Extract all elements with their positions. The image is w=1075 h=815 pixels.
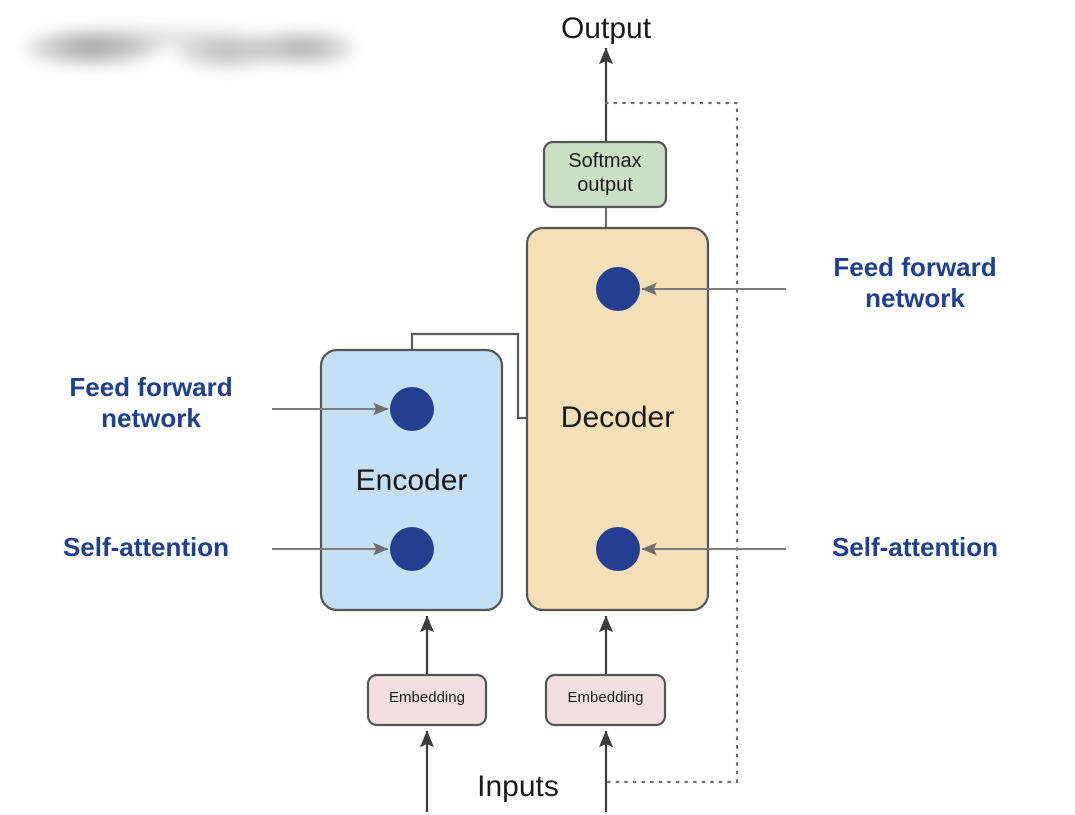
encoder-feed-forward-node[interactable] xyxy=(390,387,434,431)
decoder-self-attention-node[interactable] xyxy=(596,527,640,571)
encoder-embedding-box[interactable] xyxy=(368,675,486,725)
decoder-feed-forward-node[interactable] xyxy=(596,267,640,311)
output-label: Output xyxy=(506,12,706,46)
callout-decoder-self-attention: Self-attention xyxy=(790,532,1040,563)
diagram-canvas: Encoder Decoder Softmax output Embedding… xyxy=(0,0,1075,815)
softmax-output-box[interactable] xyxy=(544,142,666,207)
decoder-block[interactable] xyxy=(527,228,708,610)
inputs-label: Inputs xyxy=(418,770,618,804)
decoder-embedding-box[interactable] xyxy=(546,675,665,725)
callout-encoder-self-attention: Self-attention xyxy=(26,532,266,563)
callout-encoder-feed-forward: Feed forward network xyxy=(36,372,266,434)
encoder-block[interactable] xyxy=(321,350,502,610)
encoder-self-attention-node[interactable] xyxy=(390,527,434,571)
callout-decoder-feed-forward: Feed forward network xyxy=(795,252,1035,314)
